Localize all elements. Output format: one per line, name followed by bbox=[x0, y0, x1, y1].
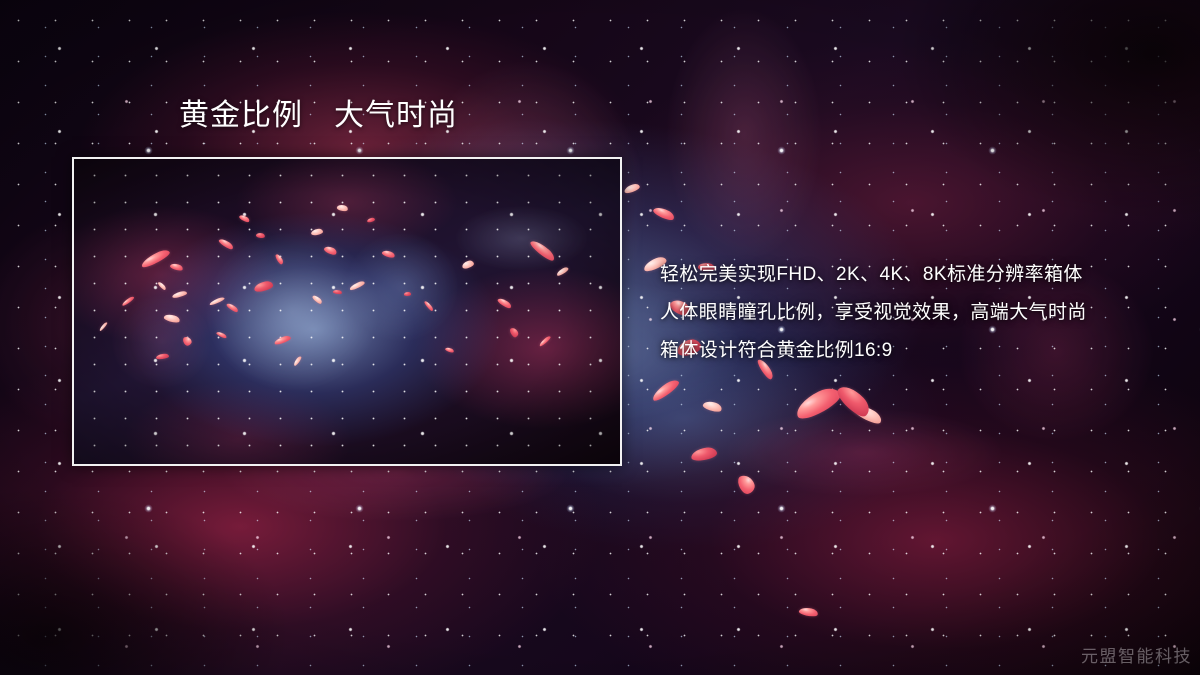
body-copy: 轻松完美实现FHD、2K、4K、8K标准分辨率箱体 人体眼睛瞳孔比例，享受视觉效… bbox=[660, 256, 1180, 370]
body-line-3: 箱体设计符合黄金比例16:9 bbox=[660, 332, 1180, 370]
watermark: 元盟智能科技 bbox=[1081, 642, 1192, 667]
flower-petal bbox=[652, 205, 675, 222]
photo-vignette bbox=[74, 159, 620, 464]
flower-petal bbox=[851, 401, 884, 427]
body-line-2: 人体眼睛瞳孔比例，享受视觉效果，高端大气时尚 bbox=[660, 294, 1180, 332]
flower-petal bbox=[702, 400, 723, 414]
framed-photo bbox=[72, 157, 622, 466]
photo-image bbox=[74, 159, 620, 464]
flower-petal bbox=[799, 606, 819, 618]
body-line-1: 轻松完美实现FHD、2K、4K、8K标准分辨率箱体 bbox=[660, 256, 1180, 294]
slide-canvas: 黄金比例 大气时尚 轻松完美实现FHD、2K、4K、8K标准分辨率箱体 人体眼睛… bbox=[0, 0, 1200, 675]
flower-petal bbox=[690, 446, 718, 462]
flower-petal bbox=[650, 377, 682, 403]
flower-petal bbox=[792, 383, 844, 422]
flower-petal bbox=[623, 183, 640, 195]
page-title: 黄金比例 大气时尚 bbox=[179, 101, 458, 131]
flower-petal bbox=[835, 380, 874, 420]
flower-petal bbox=[736, 472, 757, 495]
